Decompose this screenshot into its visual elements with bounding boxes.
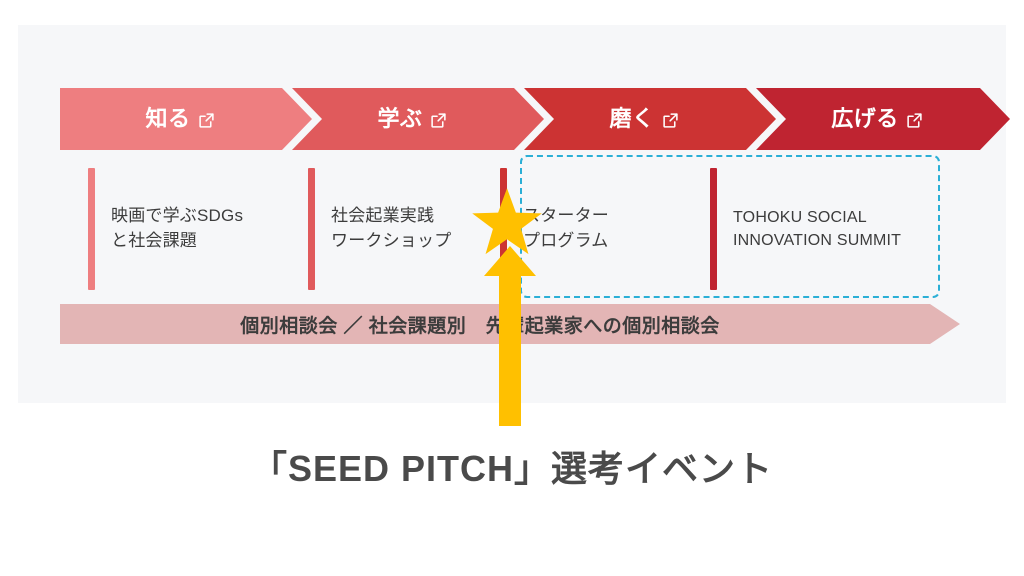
external-link-icon xyxy=(906,112,923,129)
up-arrow-icon xyxy=(484,246,536,426)
stage-chevron-label: 学ぶ xyxy=(377,108,422,130)
callout-arrow-group xyxy=(470,186,550,426)
stage-chevron-label: 磨く xyxy=(609,108,654,130)
accent-bar xyxy=(88,168,95,290)
external-link-icon xyxy=(430,112,447,129)
star-icon xyxy=(470,186,544,260)
program-cell[interactable]: 映画で学ぶSDGs と社会課題 xyxy=(88,168,304,290)
program-title: 社会起業実践 ワークショップ xyxy=(331,204,451,253)
stage-chevron-shiru[interactable]: 知る xyxy=(60,88,312,150)
program-title: 映画で学ぶSDGs と社会課題 xyxy=(111,204,243,253)
diagram-stage: 知る 学ぶ xyxy=(0,0,1024,576)
stage-chevron-hirogeru[interactable]: 広げる xyxy=(756,88,1010,150)
stage-chevron-row: 知る 学ぶ xyxy=(60,88,960,150)
stage-chevron-label: 広げる xyxy=(831,108,899,130)
external-link-icon xyxy=(662,112,679,129)
page-caption: 「SEED PITCH」選考イベント xyxy=(0,440,1024,492)
accent-bar xyxy=(710,168,717,290)
stage-chevron-migaku[interactable]: 磨く xyxy=(524,88,776,150)
accent-bar xyxy=(308,168,315,290)
stage-chevron-manabu[interactable]: 学ぶ xyxy=(292,88,544,150)
program-title: TOHOKU SOCIAL INNOVATION SUMMIT xyxy=(733,206,901,252)
stage-chevron-label: 知る xyxy=(145,108,190,130)
program-cell[interactable]: TOHOKU SOCIAL INNOVATION SUMMIT xyxy=(710,168,960,290)
external-link-icon xyxy=(198,112,215,129)
